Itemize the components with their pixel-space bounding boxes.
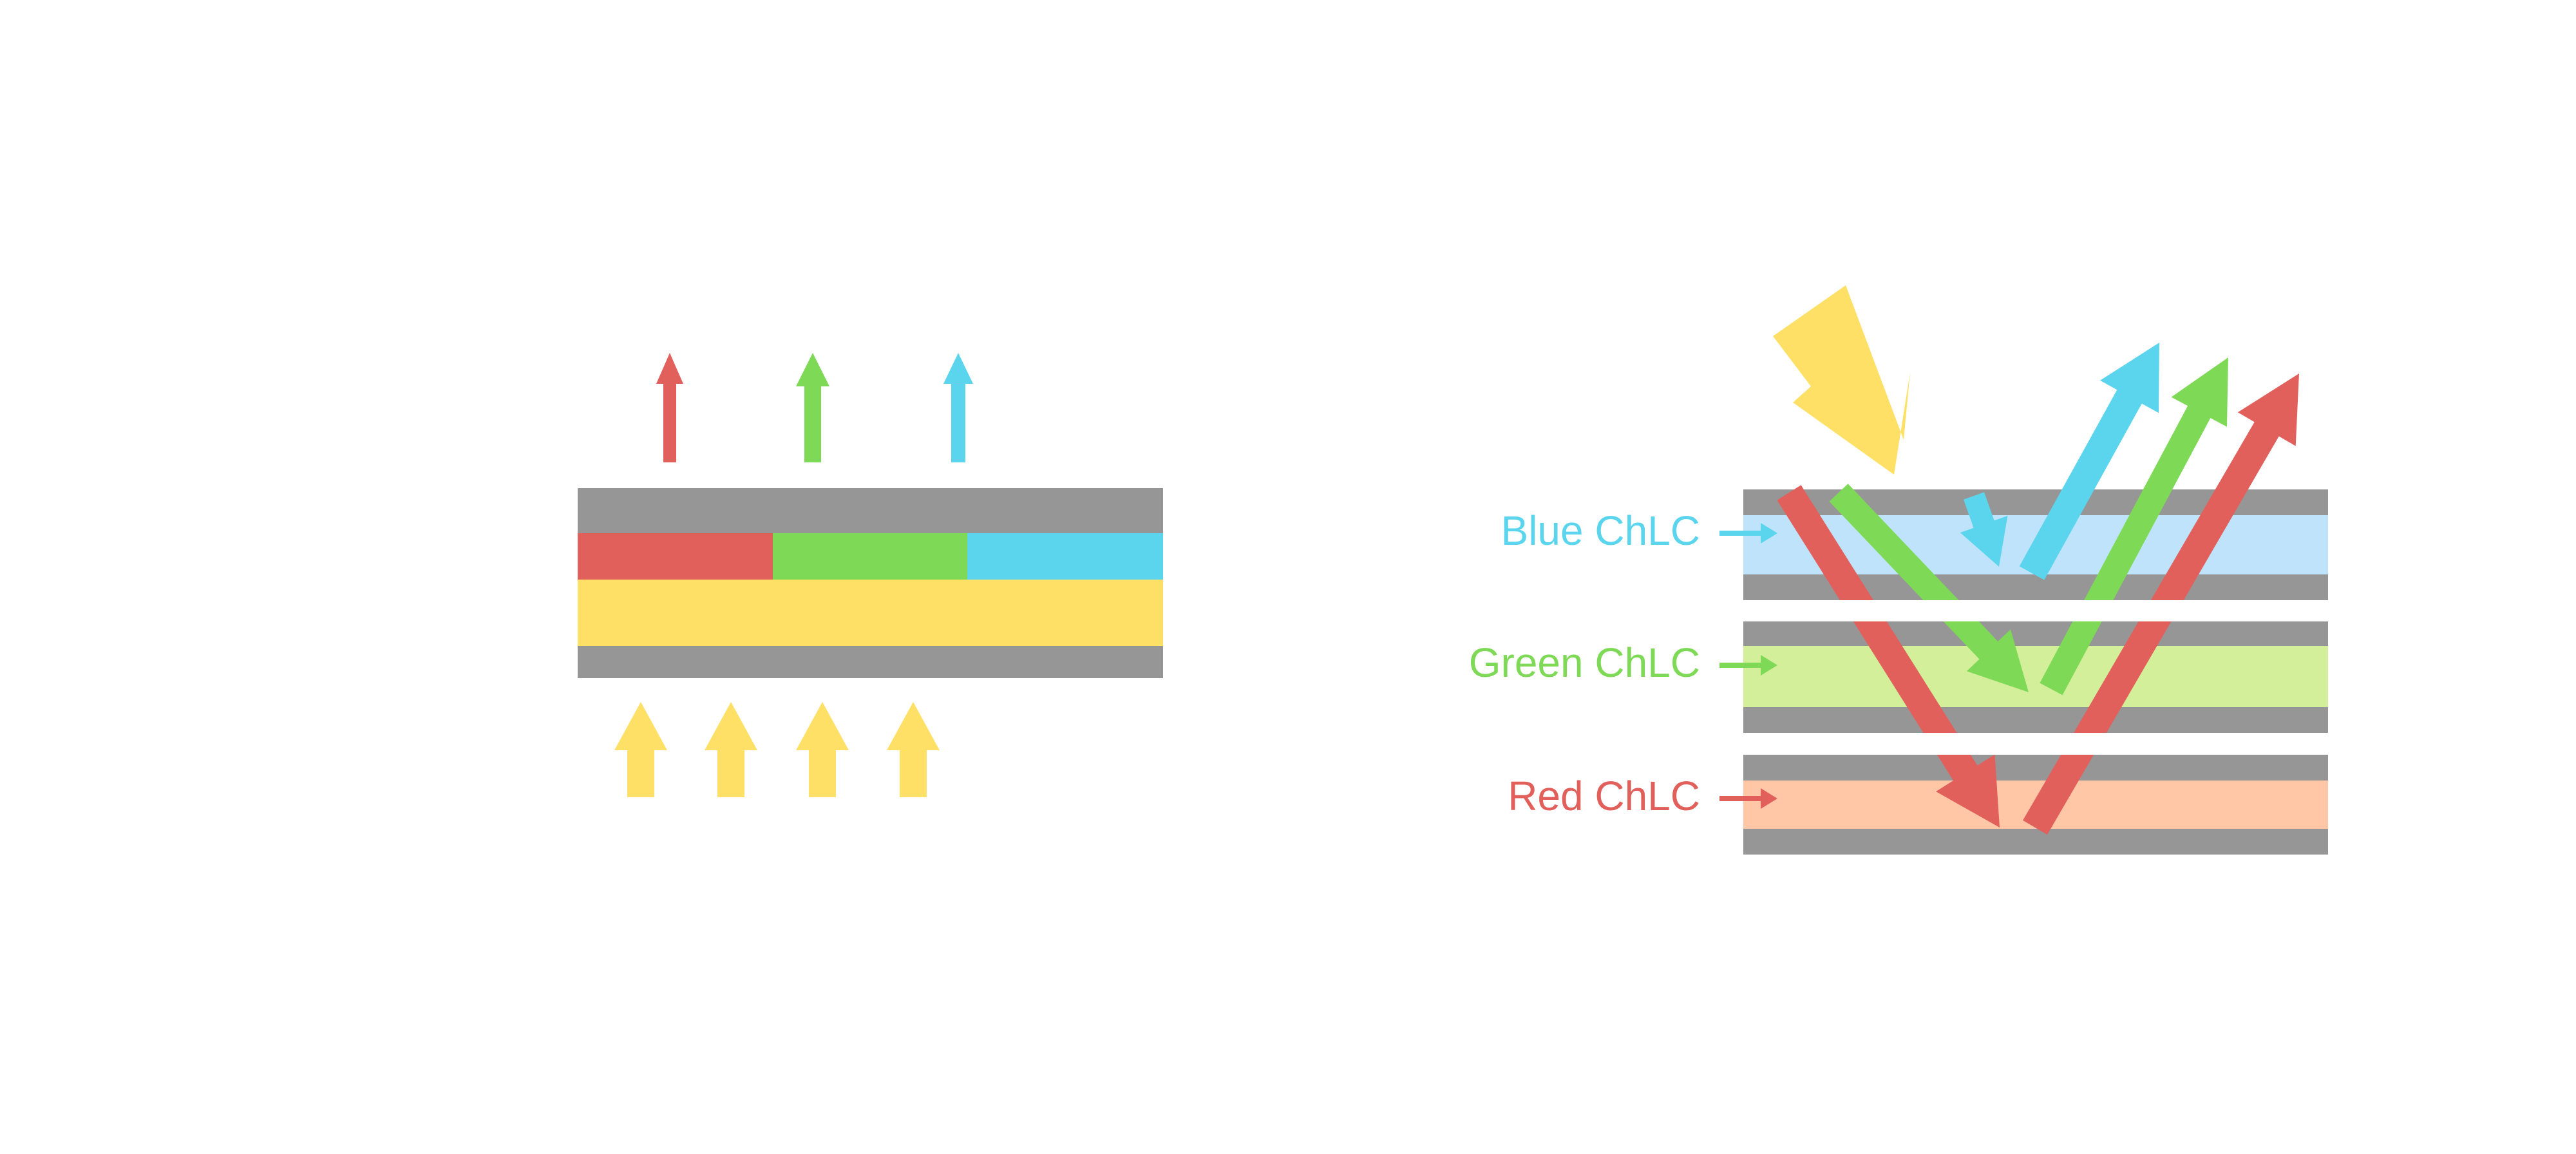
- red-filter: [578, 533, 773, 580]
- green-filter: [773, 533, 967, 580]
- green-chlc-label-text: Green ChLC: [1469, 639, 1700, 686]
- green-chlc-layer: [1743, 646, 2328, 707]
- red-cell-top-electrode: [1743, 755, 2328, 780]
- yellow-backlight-layer: [578, 580, 1163, 646]
- blue-chlc-label: Blue ChLC: [1501, 507, 1778, 554]
- blue-chlc-label-text: Blue ChLC: [1501, 507, 1701, 554]
- bottom-electrode: [578, 646, 1163, 678]
- yellow-source-arrow-1: [614, 702, 667, 797]
- cyan-emitted-arrow: [943, 353, 973, 462]
- red-chlc-label-text: Red ChLC: [1508, 773, 1700, 819]
- diagram-canvas: Blue ChLCGreen ChLCRed ChLC: [0, 0, 2576, 1154]
- green-chlc-label: Green ChLC: [1469, 639, 1777, 686]
- cyan-filter: [967, 533, 1163, 580]
- yellow-source-arrow-4: [887, 702, 940, 797]
- yellow-source-arrow-2: [705, 702, 757, 797]
- red-emitted-arrow: [656, 353, 683, 462]
- red-cell-bottom-electrode: [1743, 829, 2328, 855]
- top-electrode: [578, 488, 1163, 533]
- green-cell-top-electrode: [1743, 621, 2328, 646]
- gap-green-red: [1743, 733, 2328, 755]
- gap-blue-green: [1743, 600, 2328, 621]
- green-cell-bottom-electrode: [1743, 707, 2328, 733]
- yellow-source-arrow-3: [796, 702, 849, 797]
- ambient-light-incident-arrow: [1773, 285, 1910, 475]
- red-chlc-label: Red ChLC: [1508, 773, 1777, 819]
- chlc-diagram-svg: Blue ChLCGreen ChLCRed ChLC: [0, 0, 2576, 1154]
- green-emitted-arrow: [796, 353, 829, 462]
